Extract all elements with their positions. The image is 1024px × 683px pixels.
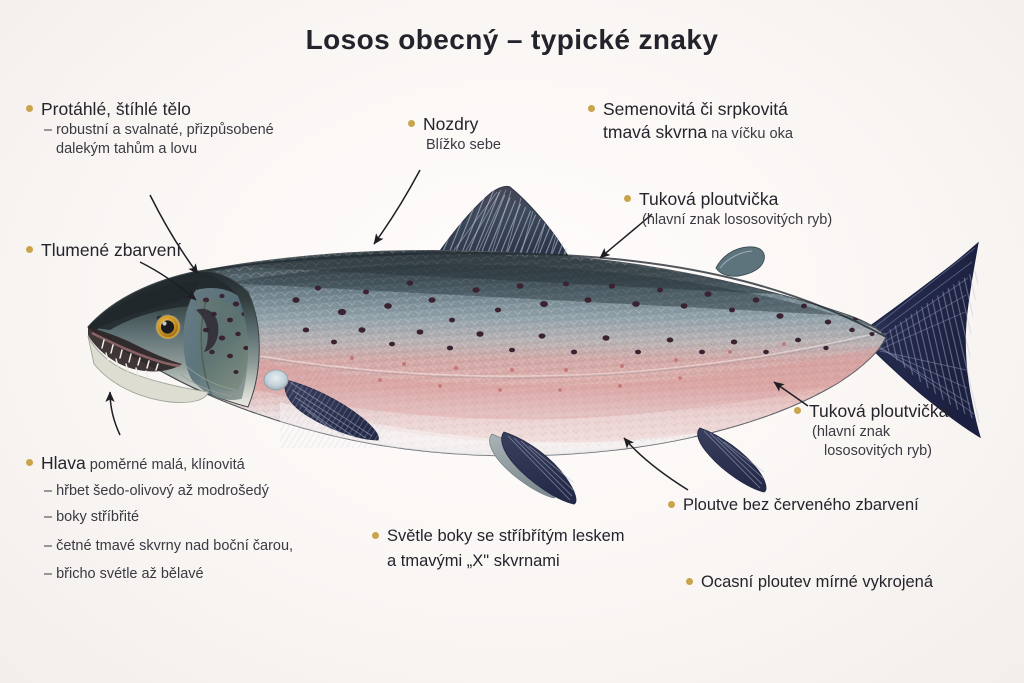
label-tail-fin: Ocasní ploutev mírné vykrojená (686, 572, 933, 594)
bullet-icon (686, 578, 693, 585)
eye (156, 315, 181, 340)
bullet-icon (26, 459, 33, 466)
label-head-shape-sub-3: – četné tmavé skvrny nad boční čarou, (26, 537, 293, 556)
label-adipose-fin-right-sub-2: lososovitých ryb) (794, 442, 948, 461)
label-nostrils: Nozdry Blížko sebe (408, 113, 501, 155)
label-tail-fin-head: Ocasní ploutev mírné vykrojená (686, 572, 933, 594)
bullet-icon (372, 532, 379, 539)
label-adipose-fin-right-head: Tuková ploutvička (794, 400, 948, 423)
bullet-icon (668, 501, 675, 508)
bullet-icon (588, 105, 595, 112)
bullet-icon (794, 407, 801, 414)
label-silver-flanks-sub: a tmavými „X" skvrnami (372, 551, 625, 573)
label-adipose-fin-top-sub: (hlavní znak lososovitých ryb) (624, 211, 832, 230)
label-head-shape-sub-2: – boky stříbřité (26, 508, 293, 527)
label-head-shape-head: Hlava poměrné malá, klínovitá (26, 452, 293, 475)
diagram-canvas: Losos obecný – typické znaky (0, 0, 1024, 683)
label-adipose-fin-right-sub-1: (hlavní znak (794, 423, 948, 442)
label-adipose-fin-top-head: Tuková ploutvička (624, 188, 832, 211)
label-body-shape-head: Protáhlé, štíhlé tělo (26, 98, 274, 121)
bullet-icon (26, 105, 33, 112)
bullet-icon (624, 195, 631, 202)
label-eye-spot: Semenovitá či srpkovitá tmavá skvrna na … (588, 98, 793, 144)
label-body-shape: Protáhlé, štíhlé tělo – robustní a svaln… (26, 98, 274, 159)
label-head-shape: Hlava poměrné malá, klínovitá – hřbet še… (26, 452, 293, 584)
label-eye-spot-light: na víčku oka (707, 126, 793, 142)
label-silver-flanks: Světle boky se stříbřítým leskem a tmavý… (372, 526, 625, 573)
bullet-icon (26, 246, 33, 253)
fish-head (88, 271, 259, 414)
label-head-shape-sub-1: – hřbet šedo-olivový až modrošedý (26, 482, 293, 501)
label-eye-spot-head: Semenovitá či srpkovitá (588, 98, 793, 121)
pectoral-fin (264, 370, 386, 448)
label-fins-no-red-head: Ploutve bez červeného zbarvení (668, 495, 919, 517)
label-adipose-fin-top: Tuková ploutvička (hlavní znak lososovit… (624, 188, 832, 230)
label-nostrils-sub: Blížko sebe (408, 136, 501, 155)
label-body-shape-sub-2: dalekým tahům a lovu (26, 140, 274, 159)
label-adipose-fin-right: Tuková ploutvička (hlavní znak lososovit… (794, 400, 948, 461)
label-muted-coloration: Tlumené zbarvení (26, 239, 181, 262)
adipose-fin (716, 247, 764, 276)
label-silver-flanks-head: Světle boky se stříbřítým leskem (372, 526, 625, 548)
bullet-icon (408, 120, 415, 127)
anal-fin (698, 428, 766, 492)
label-nostrils-head: Nozdry (408, 113, 501, 136)
label-head-shape-light: poměrné malá, klínovitá (86, 457, 245, 473)
label-fins-no-red: Ploutve bez červeného zbarvení (668, 495, 919, 517)
label-head-shape-sub-4: – břicho svétle až bělavé (26, 565, 293, 584)
label-body-shape-sub-1: – robustní a svalnaté, přizpůsobené (26, 121, 274, 140)
label-muted-coloration-head: Tlumené zbarvení (26, 239, 181, 262)
label-eye-spot-head2: tmavá skvrna na víčku oka (588, 121, 793, 144)
